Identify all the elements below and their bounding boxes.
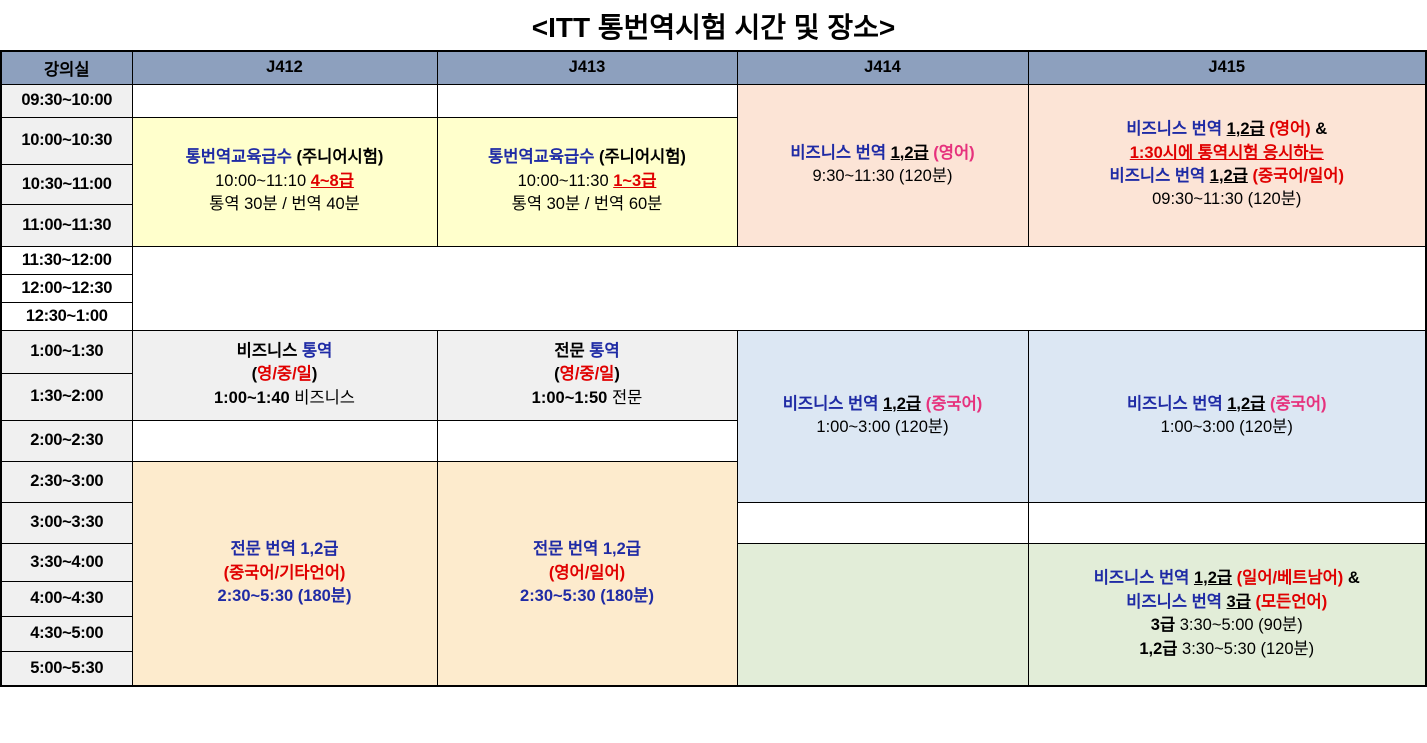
schedule-table: 강의실 J412 J413 J414 J415 09:30~10:00 비즈니스… [0,50,1427,687]
j412-afternoon-line3: 1:00~1:40 비즈니스 [136,388,434,409]
cell-j414-gap [737,502,1028,543]
cell-j412-evening: 전문 번역 1,2급 (중국어/기타언어) 2:30~5:30 (180분) [132,461,437,686]
table-row: 09:30~10:00 비즈니스 번역 1,2급 (영어) 9:30~11:30… [1,84,1426,117]
header-room-j414: J414 [737,51,1028,84]
cell-j413-empty-early [437,84,737,117]
j412-evening-line1: 전문 번역 1,2급 [136,539,434,560]
j413-evening-line3: 2:30~5:30 (180분) [441,586,734,607]
j412-morning-line2: 10:00~11:10 4~8급 [136,171,434,192]
cell-j415-evening: 비즈니스 번역 1,2급 (일어/베트남어) & 비즈니스 번역 3급 (모든언… [1028,543,1426,686]
cell-j412-gap [132,420,437,461]
time-label: 4:00~4:30 [1,581,132,616]
time-label: 5:00~5:30 [1,651,132,686]
time-label: 11:00~11:30 [1,204,132,246]
cell-j413-afternoon: 전문 통역 (영/중/일) 1:00~1:50 전문 [437,330,737,420]
j412-afternoon-line1: 비즈니스 통역 [136,341,434,362]
time-label: 12:00~12:30 [1,274,132,302]
time-label: 2:30~3:00 [1,461,132,502]
j415-morning-line3: 비즈니스 번역 1,2급 (중국어/일어) [1032,166,1423,187]
cell-j412-afternoon: 비즈니스 통역 (영/중/일) 1:00~1:40 비즈니스 [132,330,437,420]
j413-afternoon-line2: (영/중/일) [441,364,734,385]
schedule-page: <ITT 통번역시험 시간 및 장소> 강의실 J412 J413 J414 J… [0,0,1427,743]
time-label: 09:30~10:00 [1,84,132,117]
j415-morning-line2: 1:30시에 통역시험 응시하는 [1032,143,1423,164]
time-label: 1:30~2:00 [1,373,132,420]
cell-j412-empty-early [132,84,437,117]
cell-j412-morning: 통번역교육급수 (주니어시험) 10:00~11:10 4~8급 통역 30분 … [132,117,437,246]
cell-j413-morning: 통번역교육급수 (주니어시험) 10:00~11:30 1~3급 통역 30분 … [437,117,737,246]
j414-afternoon-line2: 1:00~3:00 (120분) [741,417,1025,438]
time-label: 4:30~5:00 [1,616,132,651]
j415-evening-line1: 비즈니스 번역 1,2급 (일어/베트남어) & [1032,568,1423,589]
table-row: 1:00~1:30 비즈니스 통역 (영/중/일) 1:00~1:40 비즈니스… [1,330,1426,373]
cell-j415-afternoon: 비즈니스 번역 1,2급 (중국어) 1:00~3:00 (120분) [1028,330,1426,502]
j415-evening-line2: 비즈니스 번역 3급 (모든언어) [1032,592,1423,613]
table-row: 11:30~12:00 [1,246,1426,274]
j413-afternoon-line1: 전문 통역 [441,341,734,362]
cell-j413-evening: 전문 번역 1,2급 (영어/일어) 2:30~5:30 (180분) [437,461,737,686]
time-label: 11:30~12:00 [1,246,132,274]
page-title: <ITT 통번역시험 시간 및 장소> [0,0,1427,50]
header-room-j412: J412 [132,51,437,84]
j414-afternoon-line1: 비즈니스 번역 1,2급 (중국어) [741,394,1025,415]
j415-evening-line3: 3급 3:30~5:00 (90분) [1032,615,1423,636]
j415-afternoon-line1: 비즈니스 번역 1,2급 (중국어) [1032,394,1423,415]
j413-evening-line1: 전문 번역 1,2급 [441,539,734,560]
j415-morning-line1: 비즈니스 번역 1,2급 (영어) & [1032,119,1423,140]
time-label: 3:00~3:30 [1,502,132,543]
cell-midday-break [132,246,1426,330]
cell-j414-afternoon: 비즈니스 번역 1,2급 (중국어) 1:00~3:00 (120분) [737,330,1028,502]
j412-evening-line2: (중국어/기타언어) [136,563,434,584]
j412-morning-line1: 통번역교육급수 (주니어시험) [136,147,434,168]
j412-afternoon-line2: (영/중/일) [136,364,434,385]
cell-j414-evening [737,543,1028,686]
time-label: 2:00~2:30 [1,420,132,461]
j415-morning-line4: 09:30~11:30 (120분) [1032,189,1423,210]
time-label: 10:00~10:30 [1,117,132,164]
header-room-label: 강의실 [1,51,132,84]
cell-j415-morning: 비즈니스 번역 1,2급 (영어) & 1:30시에 통역시험 응시하는 비즈니… [1028,84,1426,246]
time-label: 12:30~1:00 [1,302,132,330]
j413-morning-line1: 통번역교육급수 (주니어시험) [441,147,734,168]
j413-evening-line2: (영어/일어) [441,563,734,584]
cell-j414-morning: 비즈니스 번역 1,2급 (영어) 9:30~11:30 (120분) [737,84,1028,246]
time-label: 3:30~4:00 [1,543,132,581]
j412-evening-line3: 2:30~5:30 (180분) [136,586,434,607]
j413-afternoon-line3: 1:00~1:50 전문 [441,388,734,409]
time-label: 1:00~1:30 [1,330,132,373]
j415-evening-line4: 1,2급 3:30~5:30 (120분) [1032,639,1423,660]
time-label: 10:30~11:00 [1,164,132,204]
j414-morning-line1: 비즈니스 번역 1,2급 (영어) [741,143,1025,164]
header-room-j415: J415 [1028,51,1426,84]
header-room-j413: J413 [437,51,737,84]
j413-morning-line3: 통역 30분 / 번역 60분 [441,194,734,215]
j413-morning-line2: 10:00~11:30 1~3급 [441,171,734,192]
j414-morning-line2: 9:30~11:30 (120분) [741,166,1025,187]
table-header-row: 강의실 J412 J413 J414 J415 [1,51,1426,84]
cell-j415-gap [1028,502,1426,543]
cell-j413-gap [437,420,737,461]
j412-morning-line3: 통역 30분 / 번역 40분 [136,194,434,215]
j415-afternoon-line2: 1:00~3:00 (120분) [1032,417,1423,438]
